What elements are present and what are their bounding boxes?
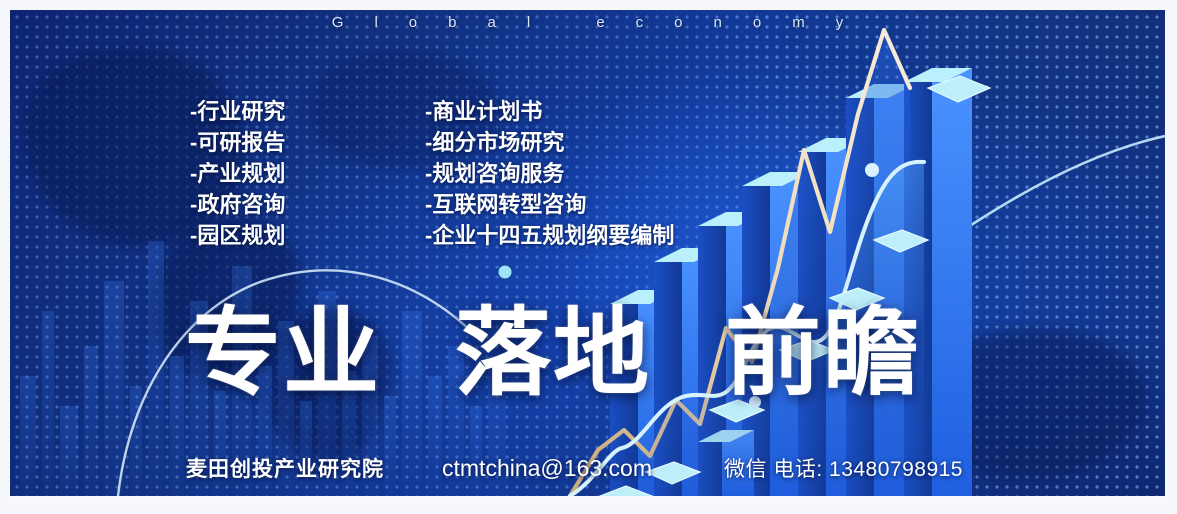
line-dot [865,163,879,177]
list-item: -可研报告 [190,127,285,158]
banner-canvas: Global economy -行业研究 -可研报告 -产业规划 -政府咨询 -… [10,10,1165,496]
page-title: Global economy [10,14,1165,31]
headline-word-1: 专业 [185,306,381,402]
list-item: -企业十四五规划纲要编制 [425,220,674,251]
list-item: -互联网转型咨询 [425,189,674,220]
list-item: -产业规划 [190,158,285,189]
contact-label: 微信 电话: [724,458,823,481]
list-item: -行业研究 [190,96,285,127]
chart-graphics [10,10,1165,496]
services-right-list: -商业计划书 -细分市场研究 -规划咨询服务 -互联网转型咨询 -企业十四五规划… [425,96,674,251]
list-item: -细分市场研究 [425,127,674,158]
arc-dot [499,266,512,279]
list-item: -政府咨询 [190,189,285,220]
headline-word-2: 落地 [455,306,651,402]
contact-phone: 微信 电话: 13480798915 [724,453,963,483]
services-left-list: -行业研究 -可研报告 -产业规划 -政府咨询 -园区规划 [190,96,285,251]
footer-contact-bar: 麦田创投产业研究院 ctmtchina@163.com 微信 电话: 13480… [186,453,1126,483]
headline-slogan: 专业 落地 前瞻 [185,306,921,402]
list-item: -商业计划书 [425,96,674,127]
organization-name: 麦田创投产业研究院 [186,453,384,483]
headline-word-3: 前瞻 [725,306,921,402]
list-item: -规划咨询服务 [425,158,674,189]
banner-image: Global economy -行业研究 -可研报告 -产业规划 -政府咨询 -… [0,0,1177,514]
email-address[interactable]: ctmtchina@163.com [442,455,652,482]
list-item: -园区规划 [190,220,285,251]
phone-number: 13480798915 [829,458,963,481]
